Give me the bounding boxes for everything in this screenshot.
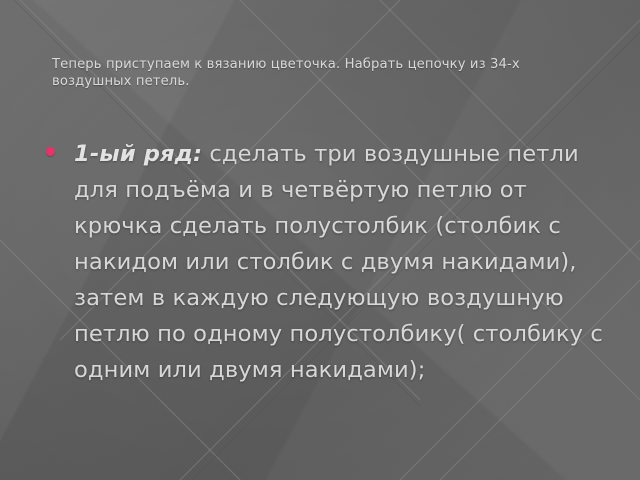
slide-body-block: 1-ый ряд: сделать три воздушные петли дл… [40, 136, 620, 388]
bullet-item-text: 1-ый ряд: сделать три воздушные петли дл… [74, 136, 620, 388]
slide-title-block: Теперь приступаем к вязанию цветочка. На… [52, 56, 592, 90]
bullet-list-item: 1-ый ряд: сделать три воздушные петли дл… [40, 136, 620, 388]
bullet-item-body: сделать три воздушные петли для подъёма … [74, 141, 603, 383]
slide-title: Теперь приступаем к вязанию цветочка. На… [52, 56, 592, 90]
bullet-dot-icon [46, 147, 55, 156]
bullet-item-lead: 1-ый ряд: [74, 141, 202, 167]
slide-content: Теперь приступаем к вязанию цветочка. На… [0, 0, 640, 480]
slide-canvas: Теперь приступаем к вязанию цветочка. На… [0, 0, 640, 480]
